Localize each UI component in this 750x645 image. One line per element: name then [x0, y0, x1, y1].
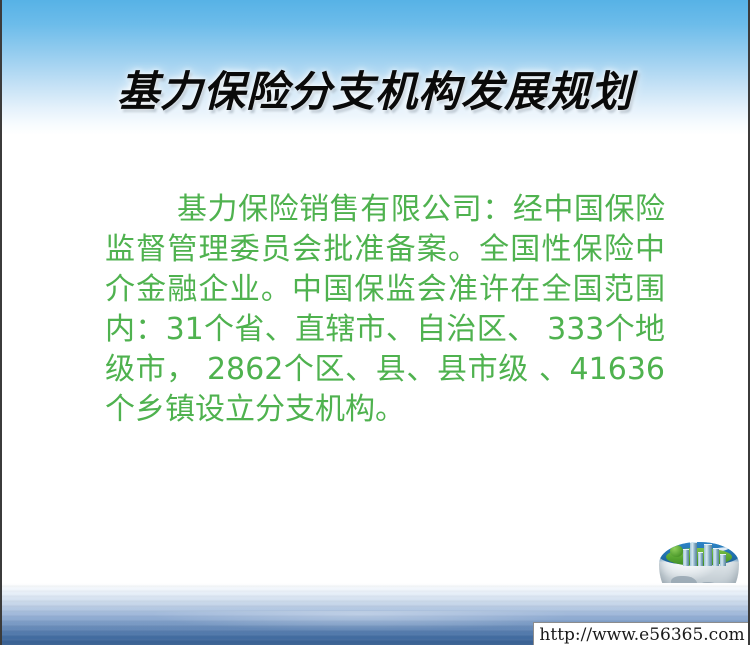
building-icon [698, 552, 703, 566]
page-title: 基力保险分支机构发展规划 [117, 58, 633, 119]
watermark-box: http://www.e56365.com [533, 622, 750, 645]
building-icon [683, 549, 689, 566]
watermark-url: http://www.e56365.com [539, 625, 744, 645]
building-icon [720, 554, 726, 566]
tree-icon [670, 545, 683, 557]
body-text-block: 基力保险销售有限公司：经中国保险监督管理委员会批准备案。全国性保险中介金融企业。… [105, 190, 665, 430]
body-paragraph: 基力保险销售有限公司：经中国保险监督管理委员会批准备案。全国性保险中介金融企业。… [105, 190, 665, 430]
building-icon [704, 544, 712, 566]
slide-canvas: 基力保险分支机构发展规划 基力保险销售有限公司：经中国保险监督管理委员会批准备案… [0, 0, 750, 645]
title-area: 基力保险分支机构发展规划 [2, 58, 748, 119]
building-icon [690, 542, 697, 566]
building-icon [713, 548, 719, 566]
city-skyline-icon [683, 542, 727, 566]
